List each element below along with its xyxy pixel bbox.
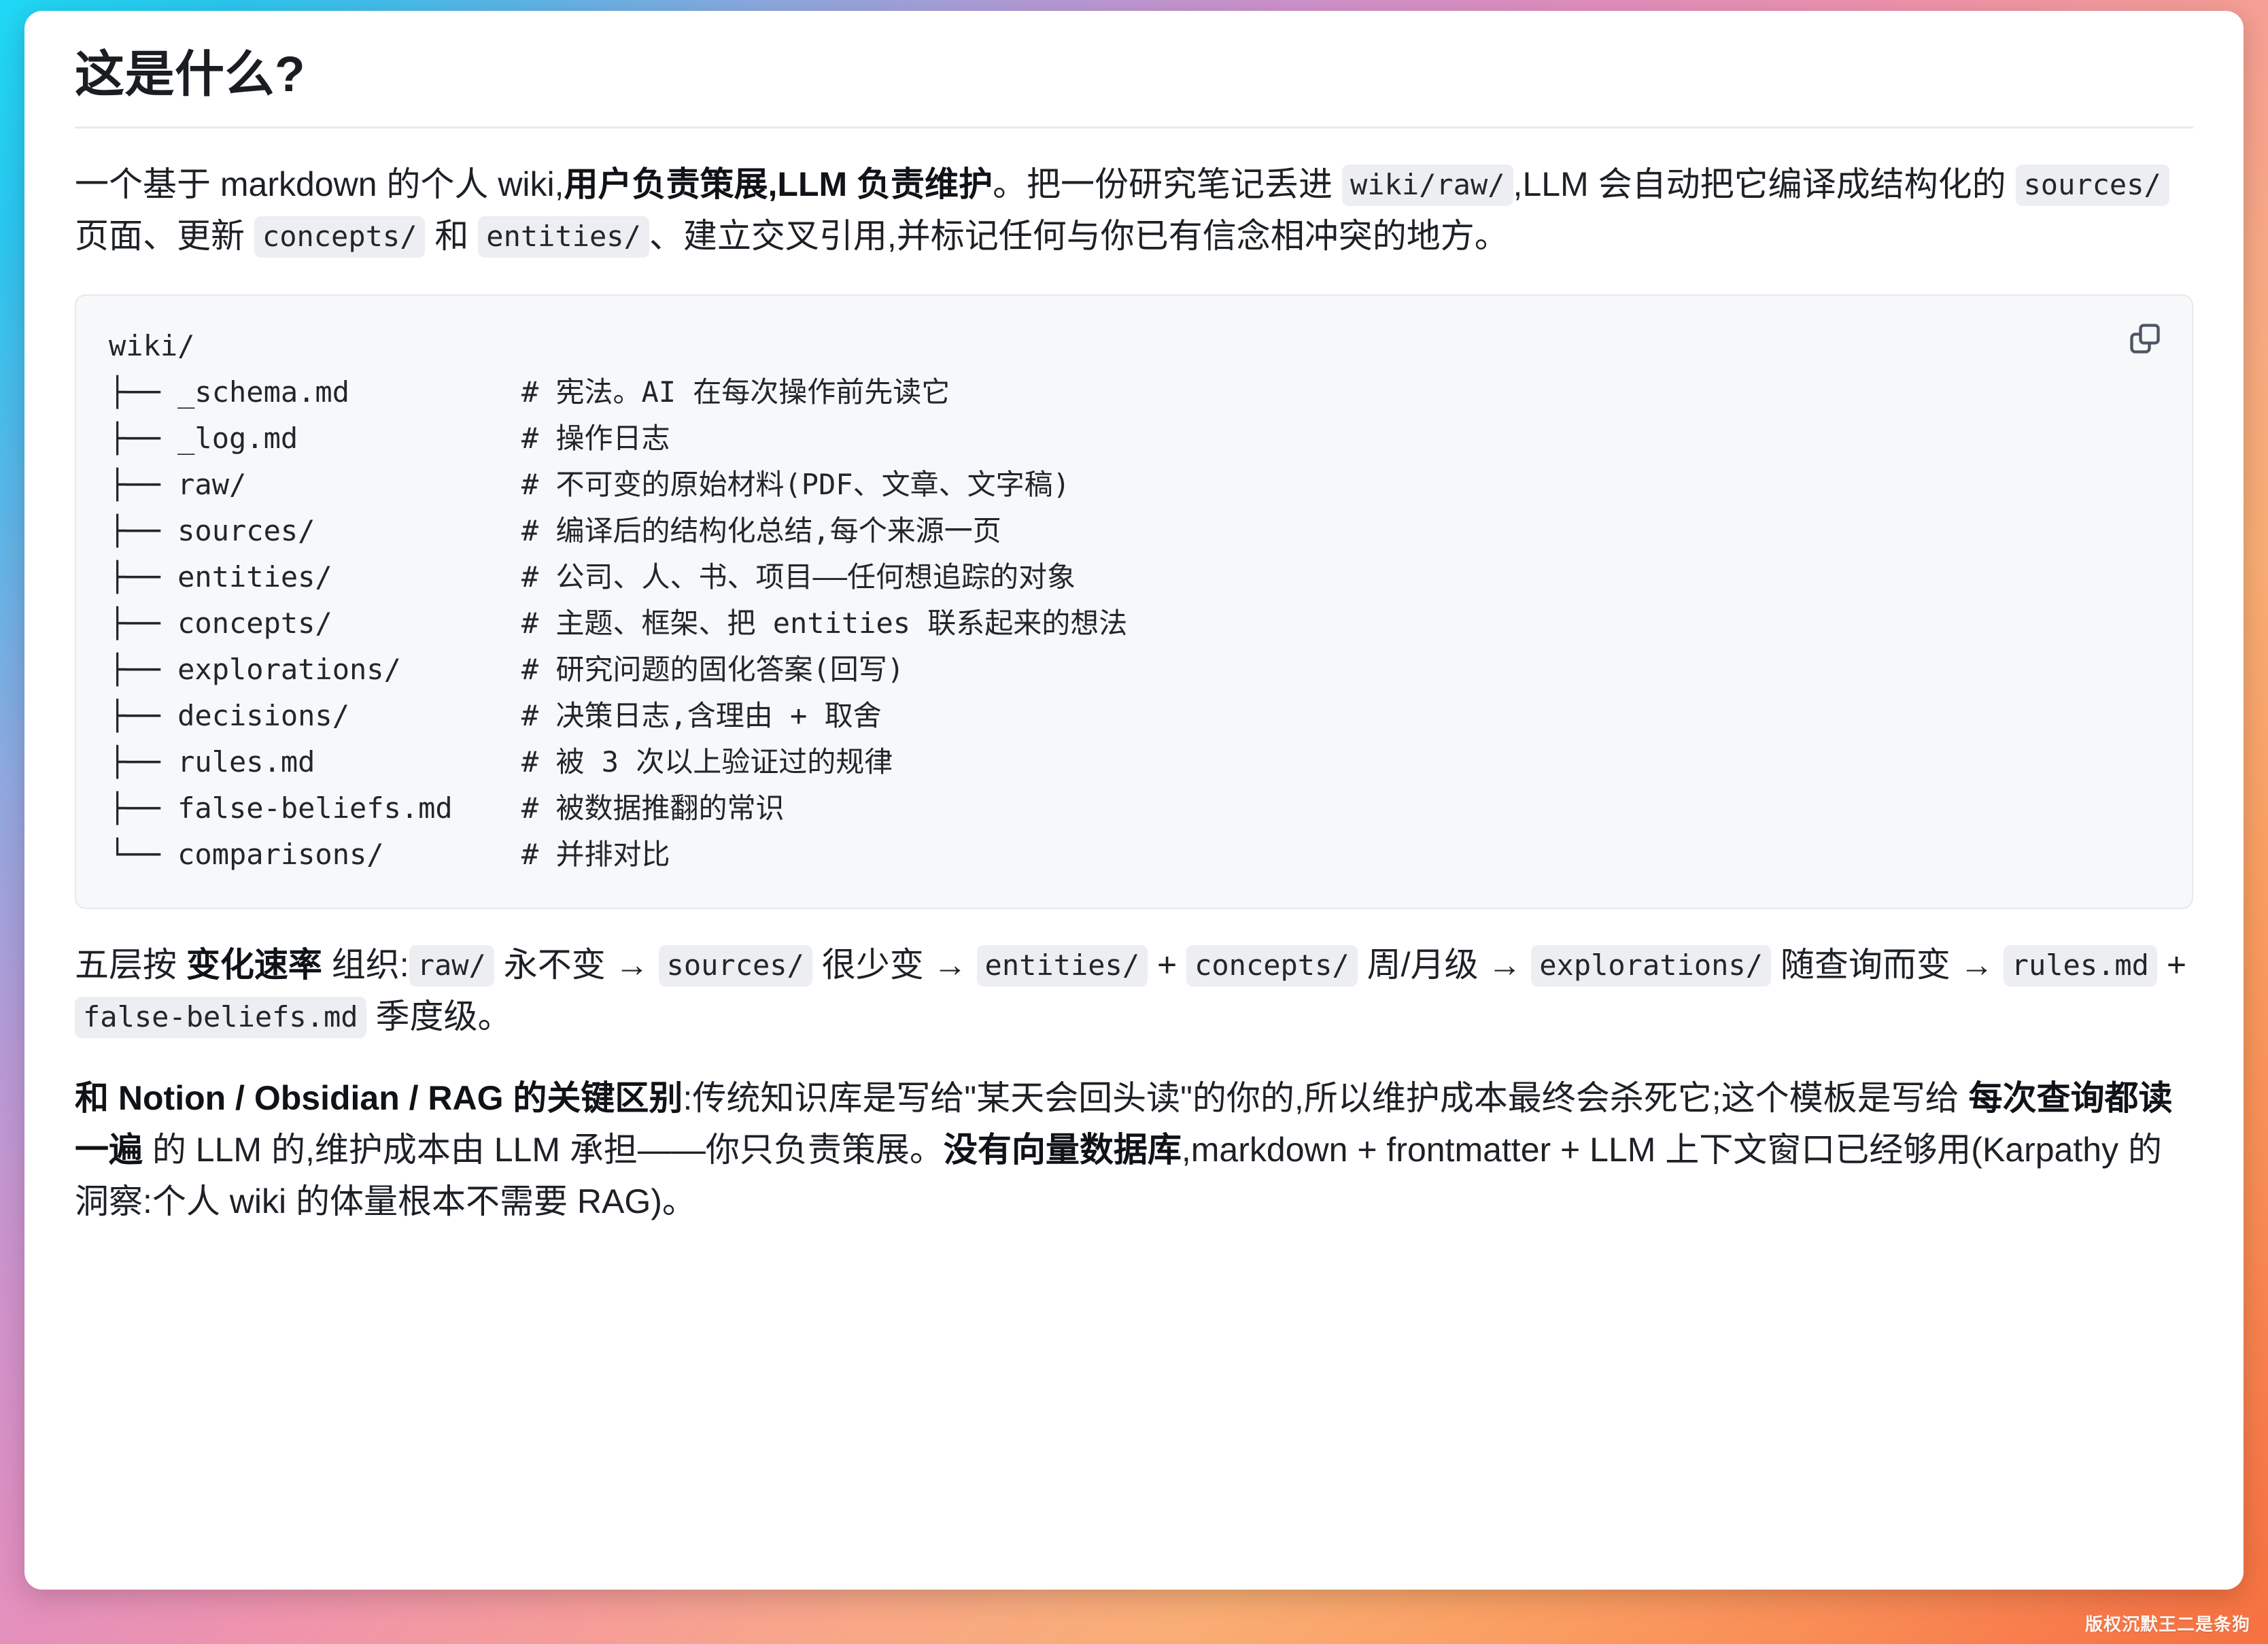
layer-chip-explorations: explorations/ bbox=[1531, 945, 1771, 987]
layers-text-5: + bbox=[1148, 946, 1186, 984]
comparison-text-2: 的 LLM 的,维护成本由 LLM 承担——你只负责策展。 bbox=[143, 1131, 944, 1169]
code-chip-entities: entities/ bbox=[478, 216, 649, 258]
layers-text-8: + bbox=[2157, 946, 2186, 984]
layers-text-1: 五层按 bbox=[75, 946, 186, 984]
code-chip-sources: sources/ bbox=[2016, 165, 2169, 206]
intro-text-1: 一个基于 markdown 的个人 wiki, bbox=[75, 165, 564, 203]
intro-text-2: 。把一份研究笔记丢进 bbox=[993, 165, 1342, 203]
layers-text-2: 组织: bbox=[322, 946, 409, 984]
layers-paragraph: 五层按 变化速率 组织:raw/ 永不变 → sources/ 很少变 → en… bbox=[75, 939, 2193, 1042]
copy-icon bbox=[2127, 321, 2163, 356]
layers-bold-1: 变化速率 bbox=[186, 946, 322, 984]
layers-text-6: 周/月级 → bbox=[1358, 946, 1532, 984]
layer-chip-concepts: concepts/ bbox=[1186, 945, 1358, 987]
intro-text-3: ,LLM 会自动把它编译成结构化的 bbox=[1513, 165, 2016, 203]
watermark: 版权沉默王二是条狗 bbox=[2085, 1611, 2250, 1636]
content-card: 这是什么? 一个基于 markdown 的个人 wiki,用户负责策展,LLM … bbox=[24, 11, 2244, 1590]
code-block: wiki/ ├── _schema.md # 宪法。AI 在每次操作前先读它 ├… bbox=[75, 294, 2193, 909]
code-chip-concepts: concepts/ bbox=[254, 216, 426, 258]
layers-text-7: 随查询而变 → bbox=[1771, 946, 2004, 984]
intro-text-6: 、建立交叉引用,并标记任何与你已有信念相冲突的地方。 bbox=[649, 217, 1509, 255]
layer-chip-false-beliefs: false-beliefs.md bbox=[75, 997, 366, 1038]
layers-text-3: 永不变 → bbox=[494, 946, 659, 984]
intro-text-5: 和 bbox=[425, 217, 478, 255]
comparison-paragraph: 和 Notion / Obsidian / RAG 的关键区别:传统知识库是写给… bbox=[75, 1072, 2193, 1227]
directory-tree: wiki/ ├── _schema.md # 宪法。AI 在每次操作前先读它 ├… bbox=[109, 323, 2159, 878]
layer-chip-rules: rules.md bbox=[2004, 945, 2157, 987]
layers-text-9: 季度级。 bbox=[366, 997, 512, 1035]
intro-text-4: 页面、更新 bbox=[75, 217, 254, 255]
intro-paragraph: 一个基于 markdown 的个人 wiki,用户负责策展,LLM 负责维护。把… bbox=[75, 158, 2193, 262]
page-title: 这是什么? bbox=[75, 46, 2193, 103]
intro-bold-1: 用户负责策展,LLM 负责维护 bbox=[564, 165, 993, 203]
copy-button[interactable] bbox=[2121, 315, 2169, 362]
page-background: 这是什么? 一个基于 markdown 的个人 wiki,用户负责策展,LLM … bbox=[0, 0, 2268, 1644]
layers-text-4: 很少变 → bbox=[812, 946, 977, 984]
layer-chip-entities: entities/ bbox=[977, 945, 1148, 987]
code-chip-wiki-raw: wiki/raw/ bbox=[1342, 165, 1513, 206]
layer-chip-sources: sources/ bbox=[659, 945, 812, 987]
comparison-bold-1: 和 Notion / Obsidian / RAG 的关键区别 bbox=[75, 1079, 683, 1117]
title-divider bbox=[75, 126, 2193, 129]
comparison-bold-3: 没有向量数据库 bbox=[944, 1131, 1182, 1169]
comparison-text-1: :传统知识库是写给"某天会回头读"的你的,所以维护成本最终会杀死它;这个模板是写… bbox=[683, 1079, 1968, 1117]
layer-chip-raw: raw/ bbox=[409, 945, 494, 987]
